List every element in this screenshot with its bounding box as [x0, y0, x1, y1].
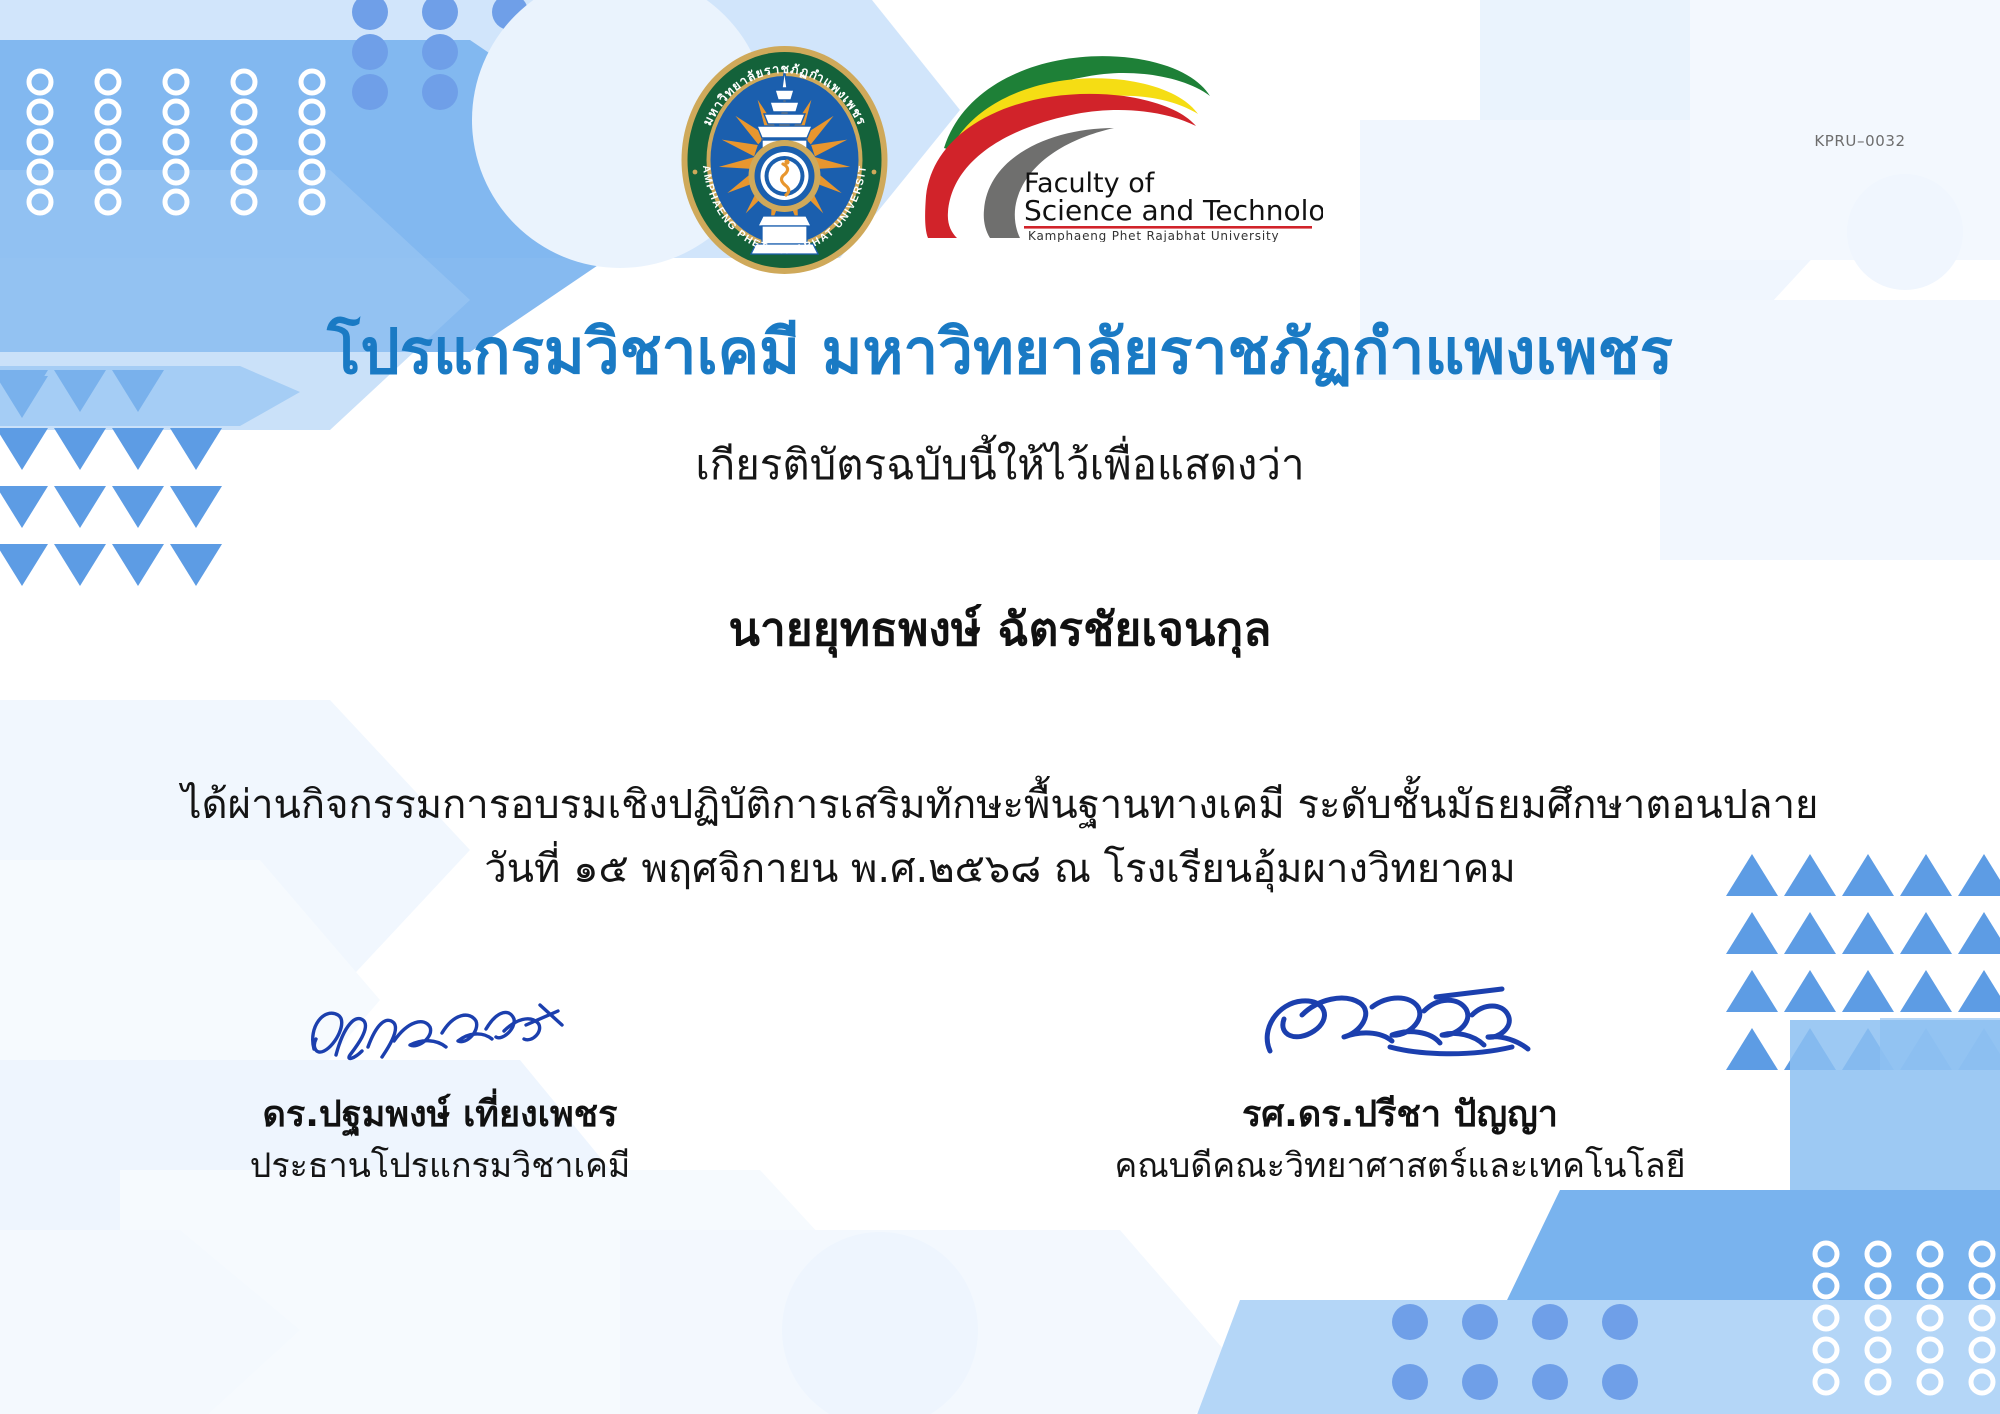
signature-name-chair: ดร.ปฐมพงษ์ เที่ยงเพชร — [120, 1092, 760, 1137]
certificate-body-line-1: ได้ผ่านกิจกรรมการอบรมเชิงปฏิบัติการเสริม… — [80, 780, 1920, 830]
svg-text:Science and Technology: Science and Technology — [1024, 194, 1323, 227]
page-title: โปรแกรมวิชาเคมี มหาวิทยาลัยราชภัฏกำแพงเพ… — [0, 318, 2000, 386]
signature-role-dean: คณบดีคณะวิทยาศาสตร์และเทคโนโลยี — [1080, 1145, 1720, 1188]
signature-block-dean: รศ.ดร.ปรีชา ปัญญา คณบดีคณะวิทยาศาสตร์และ… — [1080, 985, 1720, 1188]
certificate-page: KPRU–0032 — [0, 0, 2000, 1414]
signature-patompong-image — [120, 985, 760, 1080]
signature-name-dean: รศ.ดร.ปรีชา ปัญญา — [1080, 1092, 1720, 1137]
certificate-subtitle: เกียรติบัตรฉบับนี้ให้ไว้เพื่อแสดงว่า — [0, 440, 2000, 490]
signature-block-chair: ดร.ปฐมพงษ์ เที่ยงเพชร ประธานโปรแกรมวิชาเ… — [120, 985, 760, 1188]
recipient-name: นายยุทธพงษ์ ฉัตรชัยเจนกุล — [0, 602, 2000, 657]
signature-preecha-image — [1080, 985, 1720, 1080]
signature-role-chair: ประธานโปรแกรมวิชาเคมี — [120, 1145, 760, 1188]
university-seal-logo: มหาวิทยาลัยราชภัฏกำแพงเพชร KAMPHAENG PHE… — [677, 44, 892, 276]
svg-text:Kamphaeng Phet Rajabhat Univer: Kamphaeng Phet Rajabhat University — [1028, 229, 1279, 242]
logo-row: มหาวิทยาลัยราชภัฏกำแพงเพชร KAMPHAENG PHE… — [0, 44, 2000, 264]
faculty-science-technology-logo: Faculty of Science and Technology Kampha… — [918, 44, 1323, 242]
certificate-body-line-2: วันที่ ๑๕ พฤศจิกายน พ.ศ.๒๕๖๘ ณ โรงเรียนอ… — [80, 844, 1920, 894]
